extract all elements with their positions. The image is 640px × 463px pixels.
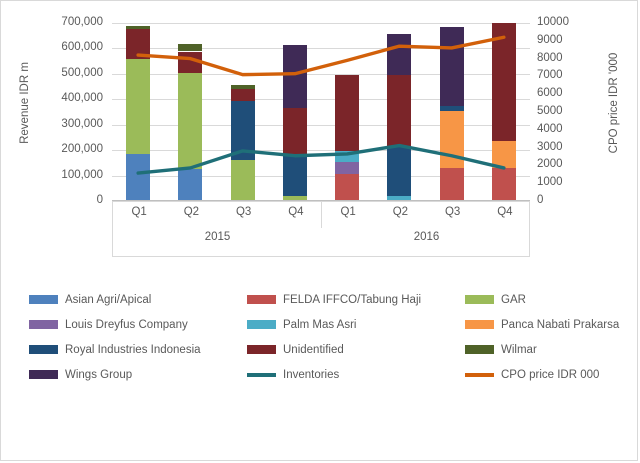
quarter-label: Q2	[374, 206, 426, 218]
gridline	[112, 23, 530, 24]
bar-segment[interactable]	[440, 111, 464, 169]
legend-label: Louis Dreyfus Company	[65, 319, 188, 331]
line-series-overlay	[112, 23, 530, 201]
quarter-label: Q4	[270, 206, 322, 218]
stacked-bar[interactable]	[283, 45, 307, 201]
legend-item[interactable]: GAR	[465, 294, 619, 306]
stacked-bar[interactable]	[335, 75, 359, 201]
bar-segment[interactable]	[440, 168, 464, 201]
legend-swatch	[29, 370, 58, 379]
chart-legend: Asian Agri/ApicalFELDA IFFCO/Tabung Haji…	[29, 287, 619, 387]
legend-label: GAR	[501, 294, 526, 306]
plot-area	[112, 23, 530, 201]
y-tick-right: 5000	[537, 106, 607, 118]
quarter-label: Q1	[322, 206, 374, 218]
y-tick-right: 9000	[537, 35, 607, 47]
legend-item[interactable]: Wings Group	[29, 369, 247, 381]
y-tick-right: 10000	[537, 17, 607, 29]
legend-label: Palm Mas Asri	[283, 319, 357, 331]
gridline	[112, 48, 530, 49]
bar-segment[interactable]	[231, 160, 255, 201]
bar-segment[interactable]	[335, 75, 359, 152]
bar-segment[interactable]	[178, 169, 202, 201]
quarter-label: Q3	[427, 206, 479, 218]
bar-segment[interactable]	[126, 26, 150, 29]
chart-container: Revenue IDR m CPO price IDR '000 0100,00…	[0, 0, 638, 461]
bar-segment[interactable]	[492, 141, 516, 168]
legend-swatch	[29, 345, 58, 354]
bar-segment[interactable]	[126, 29, 150, 60]
y-tick-right: 6000	[537, 88, 607, 100]
stacked-bar[interactable]	[178, 44, 202, 201]
bar-segment[interactable]	[335, 151, 359, 161]
bar-segment[interactable]	[283, 45, 307, 109]
y-tick-right: 7000	[537, 70, 607, 82]
legend-swatch	[465, 295, 494, 304]
quarter-label: Q2	[165, 206, 217, 218]
y-tick-left: 200,000	[23, 144, 103, 156]
gridline	[112, 125, 530, 126]
bar-segment[interactable]	[231, 85, 255, 89]
legend-swatch	[247, 295, 276, 304]
bar-segment[interactable]	[387, 75, 411, 146]
bar-segment[interactable]	[335, 162, 359, 175]
bar-segment[interactable]	[126, 59, 150, 154]
y-tick-right: 3000	[537, 142, 607, 154]
legend-swatch	[465, 320, 494, 329]
bar-segment[interactable]	[178, 44, 202, 51]
legend-item[interactable]: Unidentified	[247, 344, 465, 356]
bar-segment[interactable]	[387, 146, 411, 196]
legend-item[interactable]: Inventories	[247, 369, 465, 381]
y-tick-left: 100,000	[23, 170, 103, 182]
stacked-bar[interactable]	[231, 85, 255, 201]
y-tick-right: 0	[537, 195, 607, 207]
y-tick-left: 500,000	[23, 68, 103, 80]
gridline	[112, 99, 530, 100]
legend-label: CPO price IDR 000	[501, 369, 599, 381]
legend-label: FELDA IFFCO/Tabung Haji	[283, 294, 421, 306]
y-tick-right: 1000	[537, 177, 607, 189]
y-tick-left: 0	[23, 195, 103, 207]
stacked-bar[interactable]	[492, 23, 516, 201]
bar-segment[interactable]	[283, 108, 307, 155]
bar-segment[interactable]	[492, 168, 516, 201]
bar-segment[interactable]	[178, 52, 202, 74]
bar-segment[interactable]	[335, 174, 359, 201]
bar-segment[interactable]	[178, 73, 202, 169]
legend-label: Wilmar	[501, 344, 537, 356]
bar-segment[interactable]	[440, 27, 464, 105]
quarter-label: Q4	[479, 206, 531, 218]
bar-segment[interactable]	[492, 23, 516, 141]
quarter-label: Q3	[218, 206, 270, 218]
legend-item[interactable]: FELDA IFFCO/Tabung Haji	[247, 294, 465, 306]
bar-segment[interactable]	[126, 154, 150, 201]
stacked-bar[interactable]	[440, 27, 464, 201]
category-axis: Q1Q2Q3Q4Q1Q2Q3Q4 20152016	[112, 201, 530, 257]
bar-segment[interactable]	[283, 155, 307, 196]
quarter-label: Q1	[113, 206, 165, 218]
y-tick-right: 4000	[537, 124, 607, 136]
legend-item[interactable]: Asian Agri/Apical	[29, 294, 247, 306]
y-tick-left: 300,000	[23, 119, 103, 131]
legend-label: Panca Nabati Prakarsa	[501, 319, 619, 331]
legend-item[interactable]: CPO price IDR 000	[465, 369, 619, 381]
gridline	[112, 150, 530, 151]
bar-segment[interactable]	[387, 34, 411, 75]
bar-segment[interactable]	[231, 101, 255, 160]
legend-swatch	[29, 295, 58, 304]
legend-swatch	[247, 345, 276, 354]
legend-swatch	[247, 320, 276, 329]
legend-item[interactable]: Wilmar	[465, 344, 619, 356]
bar-segment[interactable]	[231, 89, 255, 102]
legend-item[interactable]: Panca Nabati Prakarsa	[465, 319, 619, 331]
legend-label: Wings Group	[65, 369, 132, 381]
y-tick-left: 700,000	[23, 17, 103, 29]
legend-label: Unidentified	[283, 344, 344, 356]
legend-label: Inventories	[283, 369, 339, 381]
legend-swatch	[247, 373, 276, 377]
y-tick-right: 8000	[537, 53, 607, 65]
legend-item[interactable]: Palm Mas Asri	[247, 319, 465, 331]
legend-swatch	[29, 320, 58, 329]
y-tick-right: 2000	[537, 159, 607, 171]
legend-label: Royal Industries Indonesia	[65, 344, 201, 356]
bar-segment[interactable]	[440, 106, 464, 111]
y-tick-left: 600,000	[23, 42, 103, 54]
y-tick-left: 400,000	[23, 93, 103, 105]
legend-item[interactable]: Royal Industries Indonesia	[29, 344, 247, 356]
gridline	[112, 74, 530, 75]
y-axis-right-title: CPO price IDR '000	[608, 43, 620, 163]
year-label: 2015	[113, 231, 322, 243]
gridline	[112, 176, 530, 177]
legend-item[interactable]: Louis Dreyfus Company	[29, 319, 247, 331]
stacked-bar[interactable]	[126, 26, 150, 201]
legend-swatch	[465, 345, 494, 354]
legend-swatch	[465, 373, 494, 377]
legend-label: Asian Agri/Apical	[65, 294, 151, 306]
year-label: 2016	[322, 231, 531, 243]
stacked-bar[interactable]	[387, 34, 411, 201]
